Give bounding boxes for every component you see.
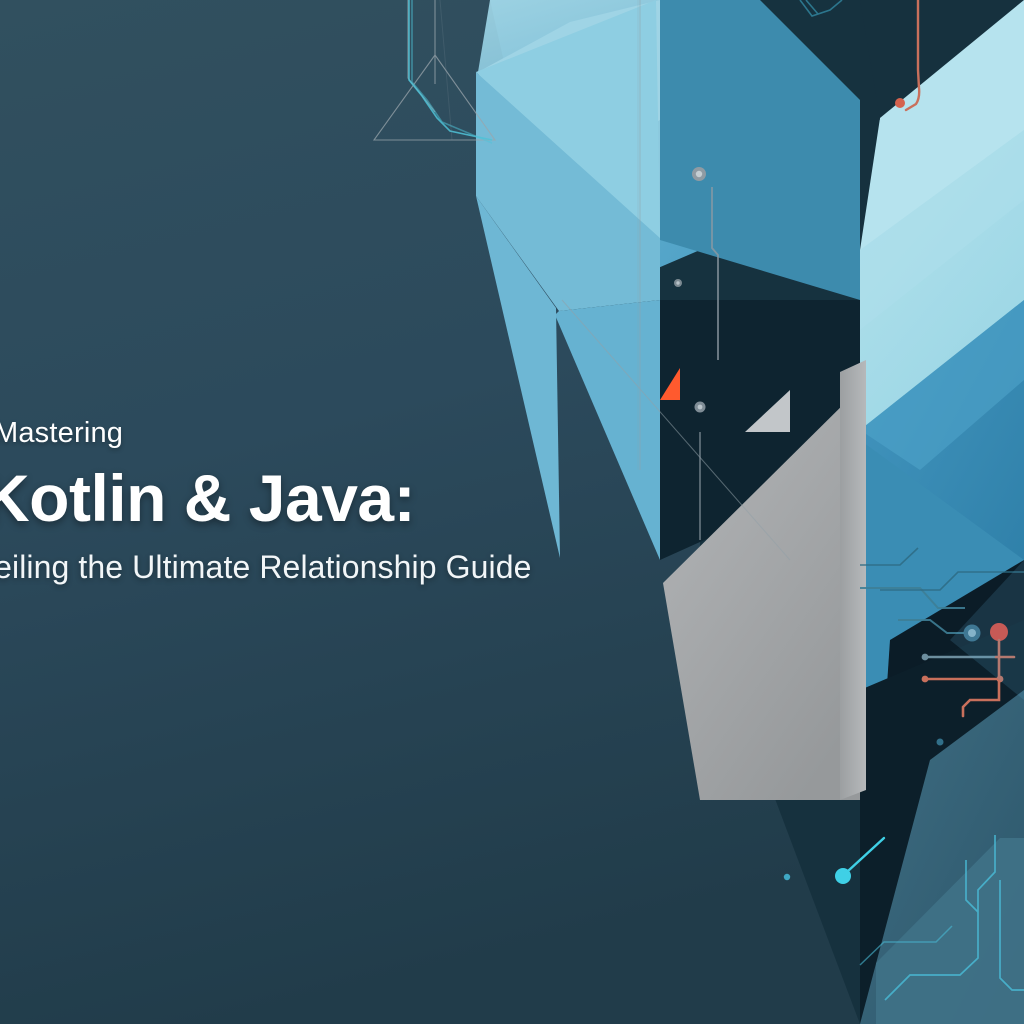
geometric-artwork (0, 0, 1024, 1024)
hero-banner: Mastering Kotlin & Java: veiling the Ult… (0, 0, 1024, 1024)
